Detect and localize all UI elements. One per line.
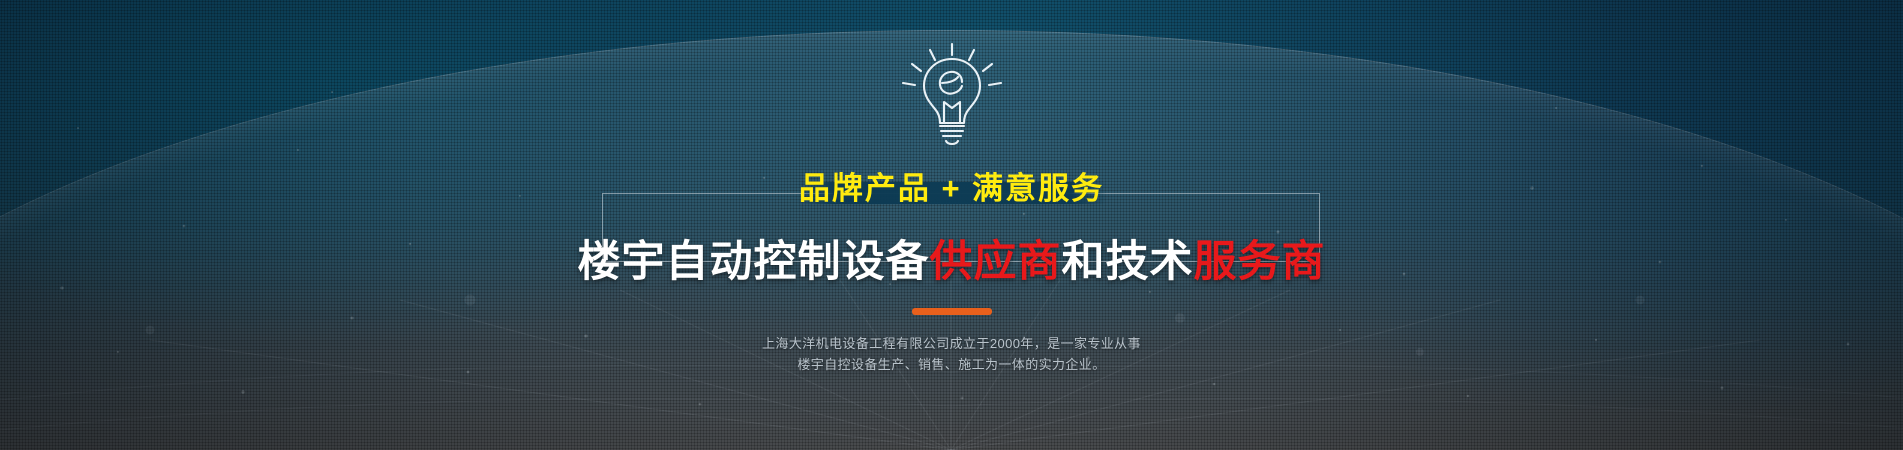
subtitle-line-1: 上海大洋机电设备工程有限公司成立于2000年，是一家专业从事 xyxy=(0,333,1903,354)
tagline: 品牌产品 + 满意服务 xyxy=(0,168,1903,210)
headline: 楼宇自动控制设备供应商和技术服务商 xyxy=(0,234,1903,290)
headline-segment-2: 供应商 xyxy=(930,238,1062,286)
subtitle: 上海大洋机电设备工程有限公司成立于2000年，是一家专业从事 楼宇自控设备生产、… xyxy=(0,333,1903,375)
headline-segment-4: 服务商 xyxy=(1194,238,1326,286)
headline-segment-3: 和技术 xyxy=(1062,238,1194,286)
hero-banner: 品牌产品 + 满意服务 楼宇自动控制设备供应商和技术服务商 上海大洋机电设备工程… xyxy=(0,0,1903,450)
lightbulb-e-icon xyxy=(892,38,1012,150)
subtitle-line-2: 楼宇自控设备生产、销售、施工为一体的实力企业。 xyxy=(0,354,1903,375)
headline-segment-1: 楼宇自动控制设备 xyxy=(578,238,930,286)
orange-divider xyxy=(912,308,992,315)
banner-content: 品牌产品 + 满意服务 楼宇自动控制设备供应商和技术服务商 上海大洋机电设备工程… xyxy=(0,0,1903,450)
